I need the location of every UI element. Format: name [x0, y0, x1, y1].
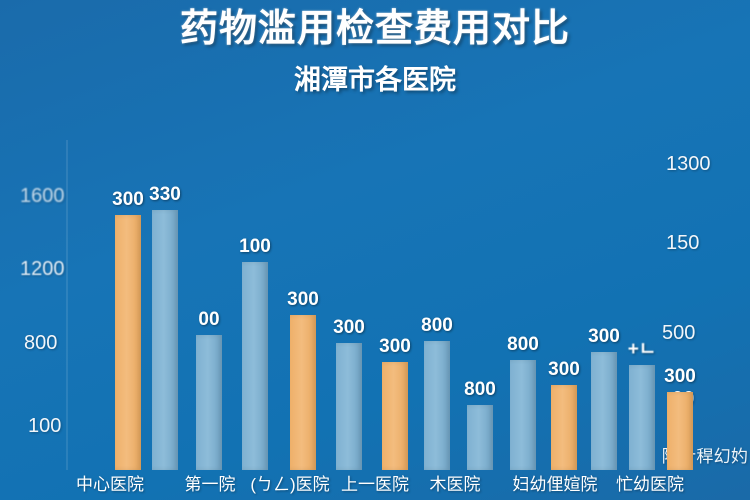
bar-value-label: 300: [287, 289, 319, 311]
bar-value-label: +ㄴ: [628, 334, 657, 361]
bar-group[interactable]: 330: [152, 140, 178, 470]
bar-group[interactable]: 100: [242, 140, 268, 470]
bar-group[interactable]: +ㄴ: [629, 140, 655, 470]
bar-blue[interactable]: [510, 360, 536, 470]
x-axis-label-0: 中心医院: [76, 470, 144, 495]
bar-value-label: 300: [333, 317, 365, 339]
plot-area: 1600 1200 800 100 1300 150 500 00 0 妁幻稈计…: [0, 140, 750, 470]
bar-value-label: 00: [198, 309, 219, 331]
bar-series: 30033000100300300300800800800300300+ㄴ300: [0, 140, 750, 470]
bar-group[interactable]: 300: [290, 140, 316, 470]
x-axis-label-4: 木医院: [430, 470, 481, 495]
bar-group[interactable]: 800: [467, 140, 493, 470]
bar-blue[interactable]: [336, 343, 362, 470]
bar-group[interactable]: 800: [424, 140, 450, 470]
bar-value-label: 800: [507, 334, 539, 356]
bar-orange[interactable]: [667, 392, 693, 470]
bar-value-label: 300: [548, 359, 580, 381]
bar-value-label: 100: [239, 236, 271, 258]
bar-group[interactable]: 300: [115, 140, 141, 470]
bar-group[interactable]: 300: [591, 140, 617, 470]
chart-container: 药物滥用检查费用对比 湘潭市各医院 1600 1200 800 100 1300…: [0, 0, 750, 500]
bar-orange[interactable]: [382, 362, 408, 470]
bar-orange[interactable]: [115, 215, 141, 470]
bar-group[interactable]: 300: [336, 140, 362, 470]
bar-group[interactable]: 300: [382, 140, 408, 470]
page-title: 药物滥用检查费用对比: [0, 8, 750, 52]
page-subtitle: 湘潭市各医院: [0, 58, 750, 97]
bar-blue[interactable]: [152, 210, 178, 470]
bar-orange[interactable]: [551, 385, 577, 470]
bar-value-label: 330: [149, 184, 181, 206]
bar-orange[interactable]: [290, 315, 316, 470]
bar-blue[interactable]: [591, 352, 617, 470]
x-axis-label-3: 上一医院: [341, 470, 409, 495]
bar-group[interactable]: 300: [551, 140, 577, 470]
x-axis-labels: 中心医院第一院(ㄅㄥ)医院上一医院木医院妇幼俚媗院忙幼医院: [0, 470, 750, 500]
bar-group[interactable]: 300: [667, 140, 693, 470]
bar-value-label: 300: [588, 326, 620, 348]
bar-blue[interactable]: [196, 335, 222, 470]
bar-value-label: 800: [464, 379, 496, 401]
bar-group[interactable]: 00: [196, 140, 222, 470]
bar-blue[interactable]: [242, 262, 268, 470]
x-axis-label-6: 忙幼医院: [616, 470, 684, 495]
bar-blue[interactable]: [424, 341, 450, 470]
bar-group[interactable]: 800: [510, 140, 536, 470]
bar-value-label: 800: [421, 315, 453, 337]
title-block: 药物滥用检查费用对比 湘潭市各医院: [0, 8, 750, 97]
bar-value-label: 300: [664, 366, 696, 388]
bar-blue[interactable]: [467, 405, 493, 470]
x-axis-label-5: 妇幼俚媗院: [513, 470, 598, 495]
bar-value-label: 300: [379, 336, 411, 358]
bar-blue[interactable]: [629, 365, 655, 470]
bar-value-label: 300: [112, 189, 144, 211]
x-axis-label-2: (ㄅㄥ)医院: [250, 470, 329, 495]
x-axis-label-1: 第一院: [185, 470, 236, 495]
